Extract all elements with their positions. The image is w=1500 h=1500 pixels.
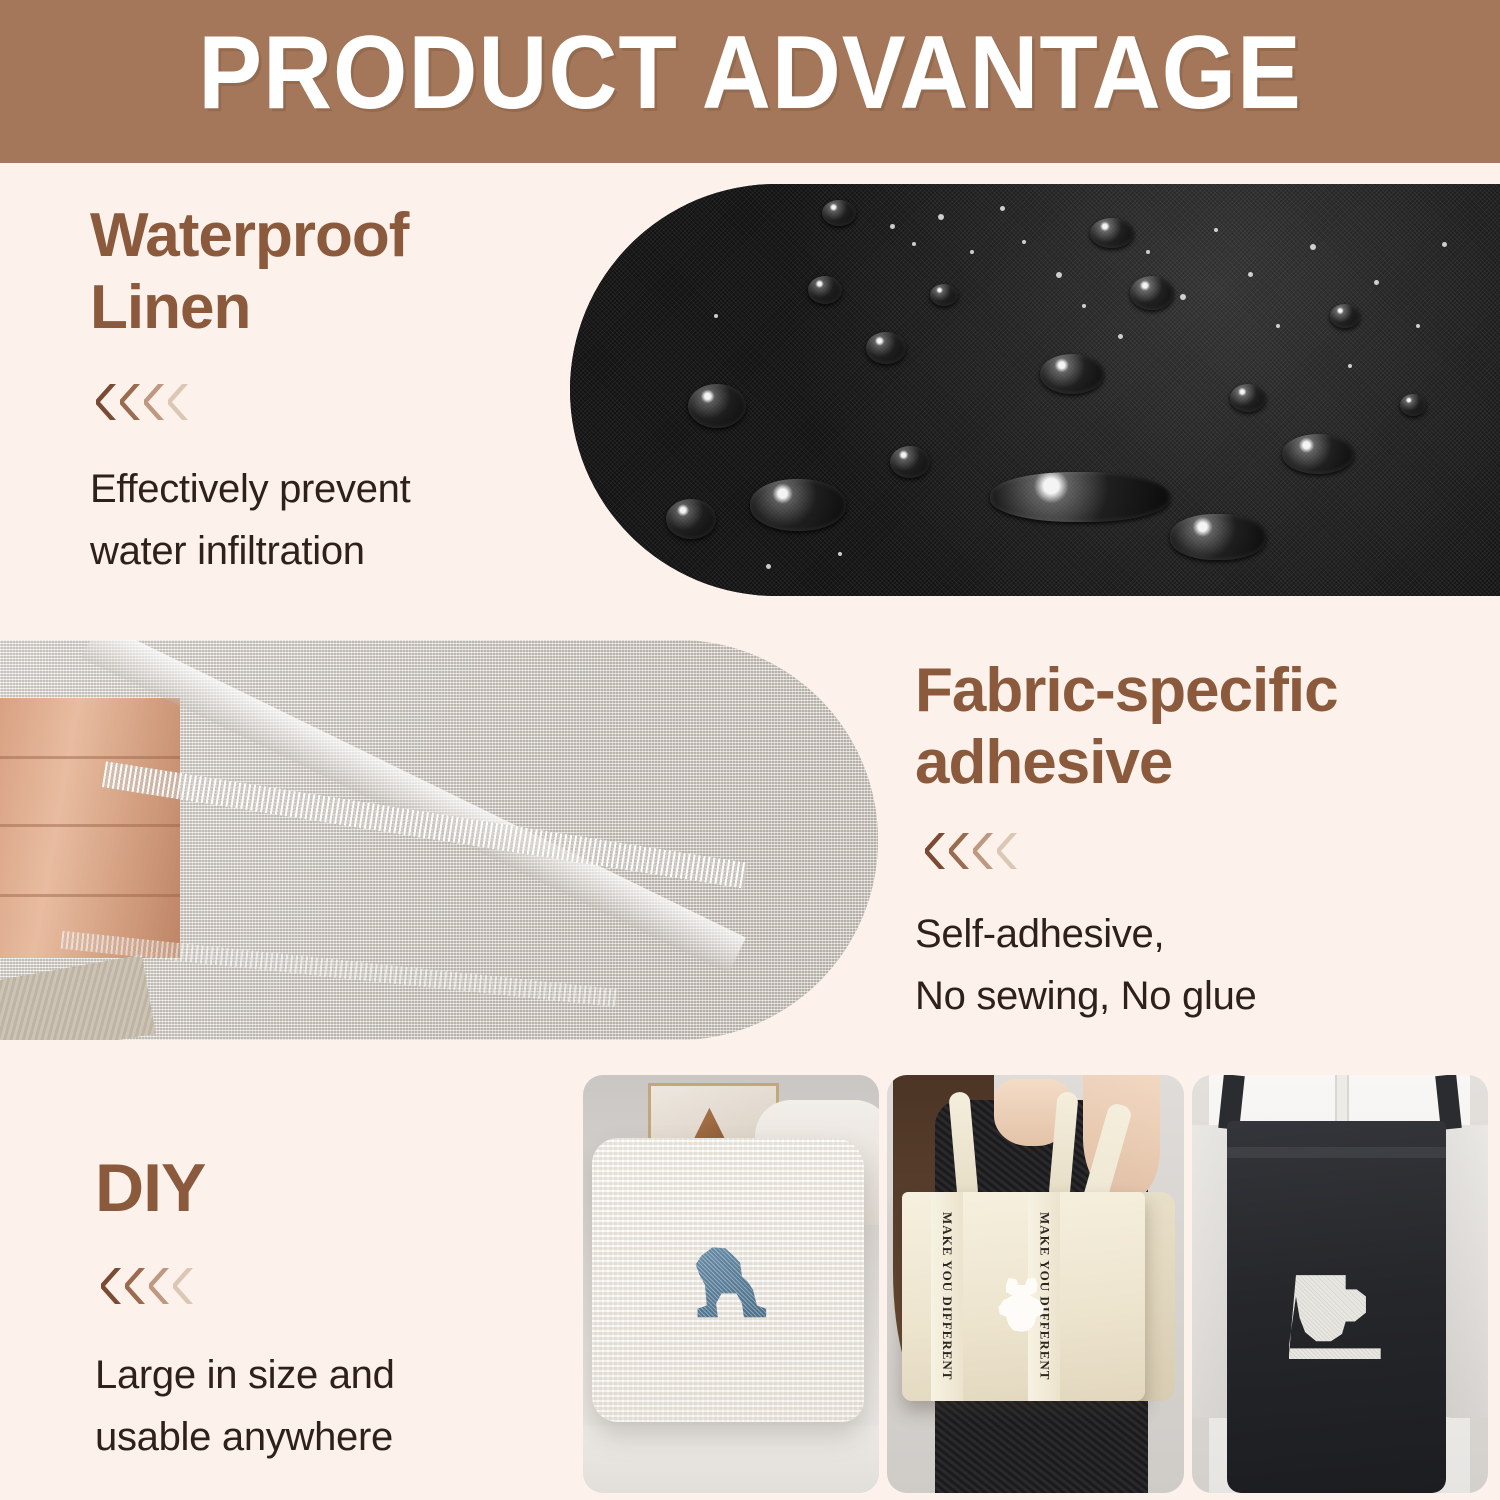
water-mist-speck — [1000, 206, 1005, 211]
water-mist-speck — [1180, 294, 1186, 300]
water-mist-speck — [1348, 364, 1352, 368]
dog-silhouette-icon — [685, 1237, 778, 1322]
water-droplet — [1130, 276, 1174, 310]
water-mist-speck — [1310, 244, 1316, 250]
heading-line-1: DIY — [95, 1150, 545, 1226]
water-droplet — [890, 446, 930, 478]
chevron-left-icon-3 — [144, 382, 166, 422]
teacup-silhouette-icon — [1289, 1270, 1381, 1359]
diy-applications-row: MAKE YOU DIFFERENT MAKE YOU DIFFERENT — [583, 1075, 1488, 1493]
water-mist-speck — [1276, 324, 1280, 328]
chevrons-left-icon — [925, 829, 1475, 873]
description-line-1: Large in size and — [95, 1344, 545, 1406]
water-mist-speck — [838, 552, 842, 556]
water-mist-speck — [714, 314, 718, 318]
water-droplet — [1170, 514, 1266, 560]
feature-adhesive-description: Self-adhesive, No sewing, No glue — [915, 903, 1475, 1027]
tote-bag-photo: MAKE YOU DIFFERENT MAKE YOU DIFFERENT — [887, 1075, 1183, 1493]
water-droplet — [822, 200, 856, 226]
water-mist-speck — [1146, 250, 1150, 254]
product-advantage-infographic: PRODUCT ADVANTAGE Waterproof Linen Effec… — [0, 0, 1500, 1500]
heading-line-1: Waterproof — [90, 200, 560, 272]
hand-fingers — [0, 698, 180, 958]
linen-fabric-photo — [0, 640, 878, 1040]
description-line-2: usable anywhere — [95, 1406, 545, 1468]
chevron-left-icon-3 — [973, 831, 995, 871]
description-line-2: water infiltration — [90, 520, 560, 582]
water-mist-speck — [1022, 240, 1026, 244]
water-mist-speck — [970, 250, 974, 254]
water-mist-speck — [1248, 272, 1253, 277]
table-surface — [583, 1426, 879, 1493]
feature-waterproof-heading: Waterproof Linen — [90, 200, 560, 344]
water-mist-speck — [938, 214, 944, 220]
apron-bib-seam — [1227, 1147, 1446, 1158]
pillow-photo — [583, 1075, 879, 1493]
water-droplet — [1330, 304, 1360, 328]
chevron-left-icon-2 — [120, 382, 142, 422]
feature-diy-heading: DIY — [95, 1150, 545, 1226]
water-mist-speck — [1214, 228, 1218, 232]
chevron-left-icon-2 — [125, 1266, 147, 1306]
waterproof-fabric-photo — [570, 184, 1500, 596]
water-droplet — [930, 284, 958, 306]
water-droplet — [866, 332, 906, 364]
header-banner: PRODUCT ADVANTAGE — [0, 0, 1500, 163]
chevron-left-icon-4 — [173, 1266, 195, 1306]
water-mist-speck — [1416, 324, 1420, 328]
black-apron — [1227, 1121, 1446, 1493]
chevron-left-icon-2 — [949, 831, 971, 871]
water-droplet — [1090, 218, 1134, 248]
pillow-cushion — [592, 1138, 865, 1422]
water-droplet — [1400, 394, 1426, 416]
water-mist-speck — [1082, 304, 1086, 308]
water-mist-speck — [1118, 334, 1123, 339]
feature-diy-description: Large in size and usable anywhere — [95, 1344, 545, 1468]
feature-diy-text: DIY Large in size and usable anywhere — [95, 1150, 545, 1468]
water-mist-speck — [766, 564, 771, 569]
water-droplet — [1230, 384, 1266, 412]
water-mist-speck — [1442, 242, 1447, 247]
water-mist-speck — [1056, 272, 1062, 278]
feature-adhesive-text: Fabric-specific adhesive Self-adhesive, … — [915, 655, 1475, 1027]
tote-strap-text-right: MAKE YOU DIFFERENT — [1036, 1212, 1052, 1380]
chevron-left-icon-1 — [96, 382, 118, 422]
tote-strap-text-left: MAKE YOU DIFFERENT — [939, 1212, 955, 1380]
description-line-2: No sewing, No glue — [915, 965, 1475, 1027]
heading-line-2: adhesive — [915, 727, 1475, 799]
tote-webbing-right: MAKE YOU DIFFERENT — [1028, 1192, 1060, 1401]
water-droplet — [666, 499, 716, 539]
heading-line-1: Fabric-specific — [915, 655, 1475, 727]
tote-webbing-left: MAKE YOU DIFFERENT — [931, 1192, 963, 1401]
feature-adhesive-heading: Fabric-specific adhesive — [915, 655, 1475, 799]
water-droplet — [1040, 354, 1104, 394]
heading-line-2: Linen — [90, 272, 560, 344]
water-droplet — [990, 472, 1170, 522]
page-title: PRODUCT ADVANTAGE — [60, 14, 1440, 132]
water-droplet — [808, 276, 842, 304]
pillow-room-background — [583, 1075, 879, 1493]
chevrons-left-icon — [96, 380, 560, 424]
apron-background — [1192, 1075, 1488, 1493]
chevron-left-icon-4 — [997, 831, 1019, 871]
chevron-left-icon-3 — [149, 1266, 171, 1306]
description-line-1: Effectively prevent — [90, 458, 560, 520]
chevron-left-icon-1 — [925, 831, 947, 871]
chevron-left-icon-4 — [168, 382, 190, 422]
chevrons-left-icon — [101, 1264, 545, 1308]
water-droplet — [688, 384, 746, 428]
chevron-left-icon-1 — [101, 1266, 123, 1306]
apron-photo — [1192, 1075, 1488, 1493]
tote-front-panel: MAKE YOU DIFFERENT MAKE YOU DIFFERENT — [902, 1192, 1145, 1401]
water-mist-speck — [890, 224, 895, 229]
description-line-1: Self-adhesive, — [915, 903, 1475, 965]
feature-waterproof-text: Waterproof Linen Effectively prevent wat… — [90, 200, 560, 582]
tote-background: MAKE YOU DIFFERENT MAKE YOU DIFFERENT — [887, 1075, 1183, 1493]
water-droplet — [750, 479, 846, 531]
water-mist-speck — [1374, 280, 1379, 285]
water-droplet — [1282, 434, 1354, 474]
feature-waterproof-description: Effectively prevent water infiltration — [90, 458, 560, 582]
water-mist-speck — [912, 242, 916, 246]
